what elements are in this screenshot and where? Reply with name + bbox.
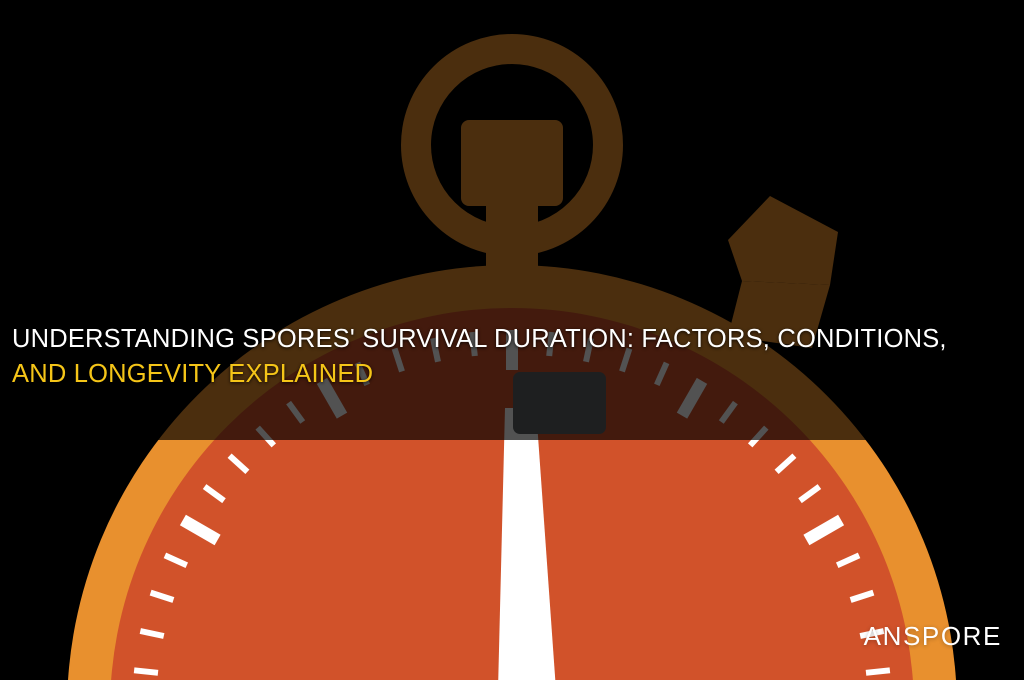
hero-banner: UNDERSTANDING SPORES' SURVIVAL DURATION:… <box>0 0 1024 680</box>
headline-line-2: AND LONGEVITY EXPLAINED <box>12 357 1012 392</box>
tick-minor <box>134 670 158 673</box>
headline-line-1: UNDERSTANDING SPORES' SURVIVAL DURATION:… <box>12 322 1012 357</box>
page-title: UNDERSTANDING SPORES' SURVIVAL DURATION:… <box>0 322 1024 392</box>
tick-minor <box>866 670 890 673</box>
crown-plunger <box>461 120 563 206</box>
watermark-brand: ANSPORE <box>864 621 1002 652</box>
